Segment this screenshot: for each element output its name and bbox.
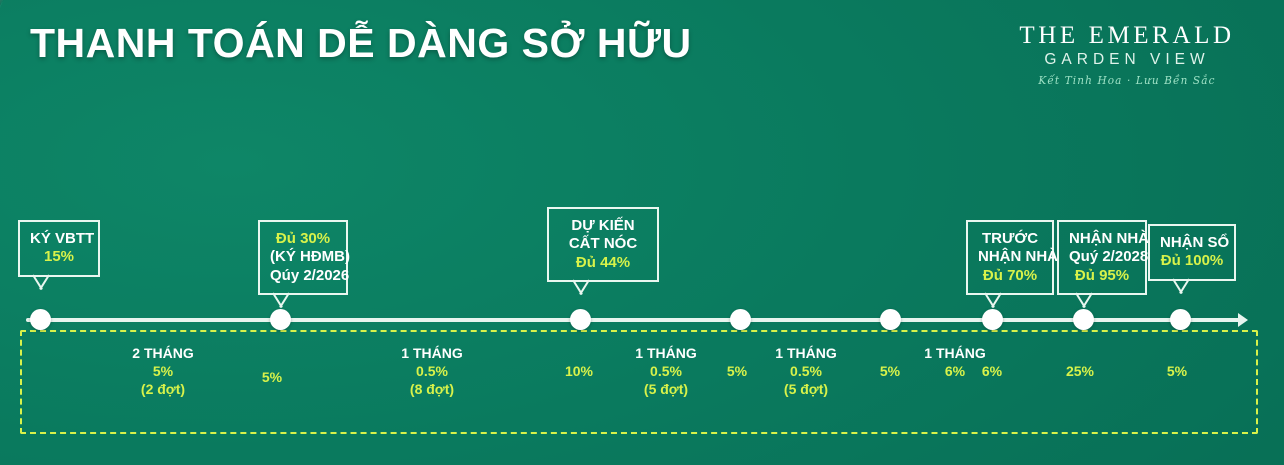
installment-label: 1 THÁNG6% [924,344,985,380]
installment-label-line: (5 đợt) [635,380,696,398]
installment-label-line: (5 đợt) [775,380,836,398]
logo-line-garden-view: GARDEN VIEW [1012,51,1242,69]
milestone-callout: KÝ VBTT15% [18,220,100,277]
timeline-dot [730,309,751,330]
installment-label-line: 10% [565,362,593,380]
timeline-axis-line [26,318,1242,322]
callout-line: Đủ 30% [270,230,336,248]
callout-line: Đủ 95% [1069,267,1135,285]
payment-schedule-infographic: THANH TOÁN DỄ DÀNG SỞ HỮU THE EMERALD GA… [0,0,1284,465]
callout-line: DỰ KIẾN [559,217,647,235]
brand-logo: THE EMERALD GARDEN VIEW Kết Tinh Hoa · L… [1012,22,1242,87]
installment-label: 25% [1066,362,1094,380]
installment-label: 1 THÁNG0.5%(5 đợt) [635,344,696,399]
timeline-dot [270,309,291,330]
timeline-arrow-icon [1238,313,1248,327]
installment-label-line: 1 THÁNG [775,344,836,362]
installment-label-line: 6% [982,362,1002,380]
milestone-callout: NHẬN NHÀQuý 2/2028Đủ 95% [1057,220,1147,295]
installment-label-line: 1 THÁNG [401,344,462,362]
installment-label-line: 6% [924,362,985,380]
callout-line: Đủ 70% [978,267,1042,285]
installment-label-line: (2 đợt) [132,380,193,398]
installment-label-line: 5% [727,362,747,380]
installment-label: 2 THÁNG5%(2 đợt) [132,344,193,399]
logo-line-emerald: THE EMERALD [1012,22,1242,50]
installment-label-line: 5% [1167,362,1187,380]
installment-label-line: 25% [1066,362,1094,380]
callout-line: CẤT NÓC [559,235,647,253]
installment-label: 10% [565,362,593,380]
callout-line: 15% [30,248,88,266]
milestone-callout: NHẬN SỔĐủ 100% [1148,224,1236,281]
page-title: THANH TOÁN DỄ DÀNG SỞ HỮU [30,20,692,67]
installment-label-line: 2 THÁNG [132,344,193,362]
installment-label: 5% [1167,362,1187,380]
callout-line: TRƯỚC [978,230,1042,248]
callout-line: Qúy 2/2026 [270,267,336,285]
timeline-dot [1073,309,1094,330]
installment-label: 5% [880,362,900,380]
installment-label-line: 0.5% [401,362,462,380]
timeline-dot [1170,309,1191,330]
callout-line: NHẬN SỔ [1160,234,1224,252]
installment-label: 1 THÁNG0.5%(5 đợt) [775,344,836,399]
timeline-dot [30,309,51,330]
timeline-dot [880,309,901,330]
logo-tagline: Kết Tinh Hoa · Lưu Bền Sắc [1018,74,1237,87]
timeline-dot [982,309,1003,330]
installment-label-line: 0.5% [775,362,836,380]
installment-label-line: 0.5% [635,362,696,380]
installment-label: 5% [262,368,282,386]
milestone-callout: DỰ KIẾNCẤT NÓCĐủ 44% [547,207,659,282]
callout-line: NHẬN NHÀ [1069,230,1135,248]
installment-label: 5% [727,362,747,380]
callout-line: Đủ 100% [1160,252,1224,270]
installment-label-line: (8 đợt) [401,380,462,398]
milestone-callout: Đủ 30%(KÝ HĐMB)Qúy 2/2026 [258,220,348,295]
callout-line: Quý 2/2028 [1069,248,1135,266]
installment-label: 1 THÁNG0.5%(8 đợt) [401,344,462,399]
installment-label-line: 5% [132,362,193,380]
installment-label-line: 1 THÁNG [635,344,696,362]
installment-label-line: 5% [262,368,282,386]
callout-line: NHẬN NHÀ [978,248,1042,266]
timeline-dot [570,309,591,330]
callout-line: Đủ 44% [559,254,647,272]
callout-line: KÝ VBTT [30,230,88,248]
callout-line: (KÝ HĐMB) [270,248,336,266]
milestone-callout: TRƯỚCNHẬN NHÀĐủ 70% [966,220,1054,295]
installment-label-line: 5% [880,362,900,380]
installment-label: 6% [982,362,1002,380]
installment-label-line: 1 THÁNG [924,344,985,362]
